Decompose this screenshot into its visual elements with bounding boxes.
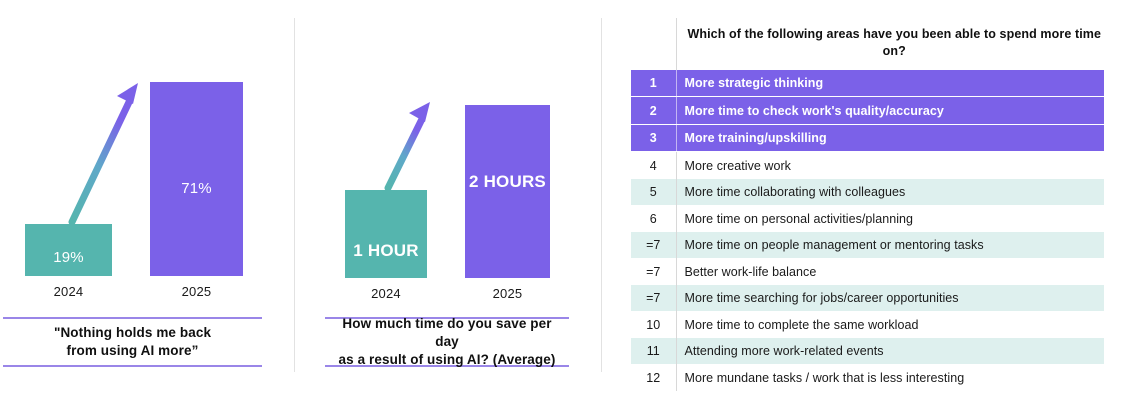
table-row[interactable]: 3More training/upskilling xyxy=(631,124,1104,152)
table-cell-rank: 10 xyxy=(631,311,676,338)
table-row[interactable]: =7More time searching for jobs/career op… xyxy=(631,285,1104,312)
bar-2025: 2 HOURS xyxy=(465,105,550,278)
table-cell-rank: 11 xyxy=(631,338,676,365)
stat-panel-time-saved: 1 HOUR 2 HOURS 2024 2025 xyxy=(300,0,590,400)
panel-divider-left xyxy=(294,18,295,372)
caption-line-2: from using AI more” xyxy=(67,343,199,358)
table-row[interactable]: 6More time on personal activities/planni… xyxy=(631,205,1104,232)
table-row[interactable]: 2More time to check work's quality/accur… xyxy=(631,97,1104,125)
ranked-areas-table-panel: Which of the following areas have you be… xyxy=(631,18,1104,391)
x-axis-label-2025: 2025 xyxy=(150,284,243,299)
table-row[interactable]: 4More creative work xyxy=(631,152,1104,179)
stat-panel-ai-barriers: 19% 71% 2024 2025 " xyxy=(0,0,290,400)
bar-2025-value-label: 2 HOURS xyxy=(469,173,546,192)
table-cell-area: Better work-life balance xyxy=(676,258,1104,285)
table-cell-rank: 1 xyxy=(631,70,676,97)
caption-ai-barriers: "Nothing holds me back from using AI mor… xyxy=(3,317,262,367)
table-cell-rank: 4 xyxy=(631,152,676,179)
table-header-row: Which of the following areas have you be… xyxy=(631,18,1104,70)
header-question-column: Which of the following areas have you be… xyxy=(676,18,1104,70)
table-cell-rank: =7 xyxy=(631,232,676,259)
table-cell-area: More creative work xyxy=(676,152,1104,179)
table-cell-rank: 5 xyxy=(631,179,676,206)
table-cell-rank: 3 xyxy=(631,124,676,152)
bar-2025: 71% xyxy=(150,82,243,276)
table-cell-area: More training/upskilling xyxy=(676,124,1104,152)
bar-2024: 19% xyxy=(25,224,112,276)
table-cell-rank: =7 xyxy=(631,258,676,285)
table-cell-area: More time searching for jobs/career oppo… xyxy=(676,285,1104,312)
caption-ai-barriers-text: "Nothing holds me back from using AI mor… xyxy=(48,324,217,360)
x-axis-label-2024: 2024 xyxy=(345,286,427,301)
caption-time-saved-text: How much time do you save per day as a r… xyxy=(325,315,569,370)
caption-line-1: How much time do you save per day xyxy=(342,316,551,349)
table-cell-rank: 6 xyxy=(631,205,676,232)
table-row[interactable]: 1More strategic thinking xyxy=(631,70,1104,97)
bar-2024-value-label: 19% xyxy=(53,250,84,267)
table-cell-rank: =7 xyxy=(631,285,676,312)
table-question-label: Which of the following areas have you be… xyxy=(685,26,1105,60)
caption-time-saved: How much time do you save per day as a r… xyxy=(325,317,569,367)
table-cell-area: More time on personal activities/plannin… xyxy=(676,205,1104,232)
caption-line-2: as a result of using AI? (Average) xyxy=(339,352,556,367)
table-row[interactable]: 11Attending more work-related events xyxy=(631,338,1104,365)
table-row[interactable]: =7More time on people management or ment… xyxy=(631,232,1104,259)
ranked-areas-table: Which of the following areas have you be… xyxy=(631,18,1104,391)
table-cell-area: More mundane tasks / work that is less i… xyxy=(676,364,1104,391)
bar-2024-value-label: 1 HOUR xyxy=(353,242,418,261)
panel-divider-right xyxy=(601,18,602,372)
table-row[interactable]: =7Better work-life balance xyxy=(631,258,1104,285)
caption-line-1: "Nothing holds me back xyxy=(54,325,211,340)
table-cell-area: More time collaborating with colleagues xyxy=(676,179,1104,206)
x-axis-label-2024: 2024 xyxy=(25,284,112,299)
table-cell-area: More strategic thinking xyxy=(676,70,1104,97)
infographic-page: 19% 71% 2024 2025 " xyxy=(0,0,1130,400)
table-cell-rank: 12 xyxy=(631,364,676,391)
bar-2024: 1 HOUR xyxy=(345,190,427,278)
table-row[interactable]: 5More time collaborating with colleagues xyxy=(631,179,1104,206)
x-axis-label-2025: 2025 xyxy=(465,286,550,301)
bar-2025-value-label: 71% xyxy=(181,181,212,198)
header-rank-column xyxy=(631,18,676,70)
table-row[interactable]: 10More time to complete the same workloa… xyxy=(631,311,1104,338)
table-header: Which of the following areas have you be… xyxy=(631,18,1104,70)
table-cell-area: More time on people management or mentor… xyxy=(676,232,1104,259)
table-cell-area: More time to complete the same workload xyxy=(676,311,1104,338)
table-body: 1More strategic thinking2More time to ch… xyxy=(631,70,1104,391)
table-row[interactable]: 12More mundane tasks / work that is less… xyxy=(631,364,1104,391)
table-cell-area: More time to check work's quality/accura… xyxy=(676,97,1104,125)
bar-chart-time-saved: 1 HOUR 2 HOURS 2024 2025 xyxy=(300,0,590,310)
table-cell-area: Attending more work-related events xyxy=(676,338,1104,365)
bar-chart-ai-barriers: 19% 71% 2024 2025 xyxy=(0,0,290,310)
table-cell-rank: 2 xyxy=(631,97,676,125)
